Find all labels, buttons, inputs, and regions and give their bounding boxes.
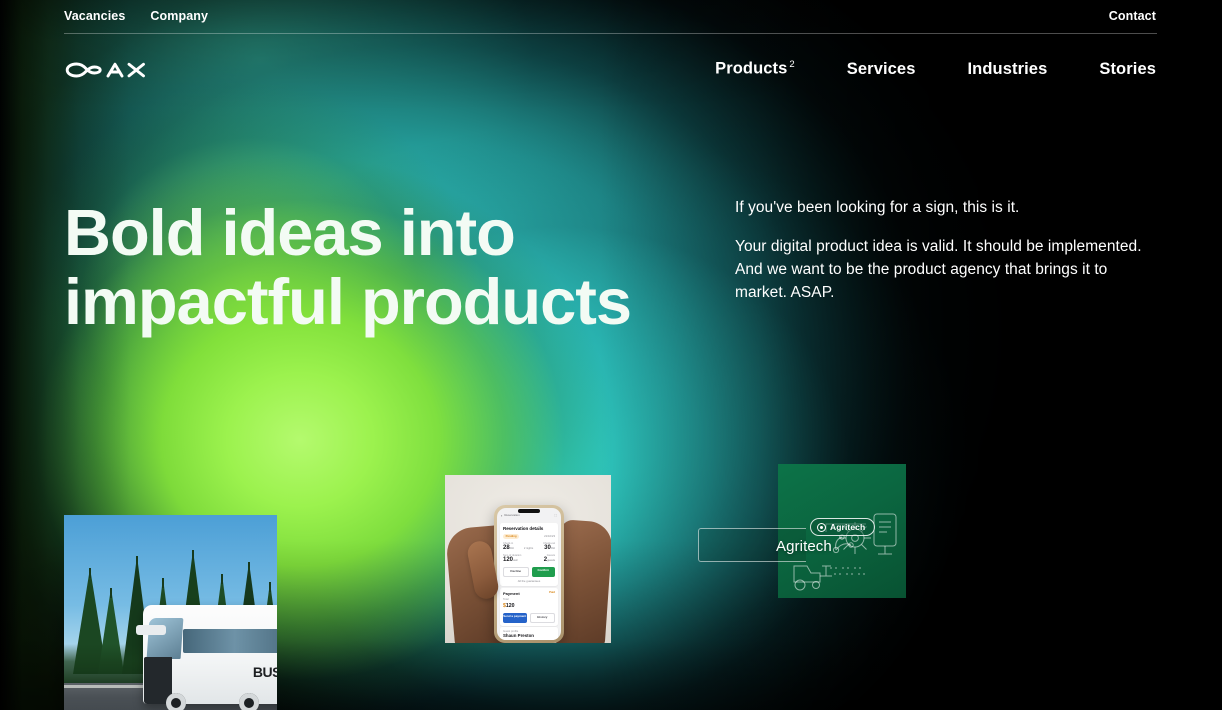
bus-wheel bbox=[166, 693, 186, 710]
check-out-month: Oct bbox=[551, 547, 555, 550]
contact-link[interactable]: Contact bbox=[1109, 9, 1156, 23]
page-title: Bold ideas into impactful products bbox=[64, 198, 684, 336]
send-payment-button[interactable]: Send a payment bbox=[503, 613, 527, 623]
coax-logo[interactable] bbox=[64, 58, 156, 82]
guests-value: 2guests bbox=[544, 557, 555, 563]
total-value: 120 bbox=[506, 603, 515, 609]
nav-label-products: Products bbox=[715, 60, 787, 78]
phone-screen: ‹ Reservation ⬚ Reservation details Pend… bbox=[497, 508, 561, 640]
nav-label-industries: Industries bbox=[968, 60, 1048, 78]
duration-unit: usd bbox=[513, 559, 517, 562]
nav-item-stories[interactable]: Stories bbox=[1099, 60, 1156, 79]
coax-logo-mark bbox=[64, 58, 156, 82]
decline-button[interactable]: Decline bbox=[503, 567, 529, 577]
agritech-node-icon bbox=[817, 523, 826, 532]
confirm-button[interactable]: Confirm bbox=[532, 567, 556, 577]
check-out-block: Check-out 30Oct bbox=[543, 542, 555, 551]
app-status-label: Reservation bbox=[504, 514, 519, 518]
nav-item-products[interactable]: Products2 bbox=[715, 59, 795, 79]
bus-mirror bbox=[136, 625, 166, 636]
utility-bar: Vacancies Company Contact bbox=[0, 0, 1222, 32]
reservation-actions: Decline Confirm bbox=[503, 567, 555, 577]
hero-lead-text: If you've been looking for a sign, this … bbox=[735, 197, 1155, 219]
guest-profile-card[interactable]: Guest profile Shaun Preston bbox=[500, 627, 558, 640]
stay-dates-row: Check-in 28Oct 2 nights Check-out 30Oct bbox=[503, 542, 555, 551]
reservation-date: 21/10/23 bbox=[544, 535, 555, 538]
utility-link-vacancies[interactable]: Vacancies bbox=[64, 9, 125, 23]
nav-item-industries[interactable]: Industries bbox=[968, 60, 1048, 79]
guest-profile-name: Shaun Preston bbox=[503, 633, 555, 639]
nav-item-services[interactable]: Services bbox=[847, 60, 916, 79]
total-amount: $120 bbox=[503, 603, 555, 610]
hero-copy: If you've been looking for a sign, this … bbox=[735, 197, 1155, 304]
check-in-day: 28 bbox=[503, 545, 510, 551]
phone-device: ‹ Reservation ⬚ Reservation details Pend… bbox=[494, 505, 564, 643]
summary-row: Sum of duration 120usd Guests 2guests bbox=[503, 554, 555, 563]
reservation-status-row: Pending 21/10/23 bbox=[503, 534, 555, 539]
nav-label-services: Services bbox=[847, 60, 916, 78]
guests-unit: guests bbox=[547, 559, 555, 562]
check-in-month: Oct bbox=[510, 547, 514, 550]
hero-body-text: Your digital product idea is valid. It s… bbox=[735, 235, 1155, 304]
check-out-day: 30 bbox=[544, 545, 551, 551]
main-header: Products2 Services Industries Stories bbox=[0, 33, 1222, 111]
bus-brand-logo: BUSTO bbox=[253, 665, 277, 679]
guests-block: Guests 2guests bbox=[544, 554, 555, 563]
payment-header: Payment Paid bbox=[503, 591, 555, 596]
chevron-left-icon[interactable]: ‹ bbox=[501, 514, 502, 518]
duration-amount: 120 bbox=[503, 557, 513, 563]
check-out-value: 30Oct bbox=[543, 545, 555, 551]
bus-wheel bbox=[239, 693, 259, 710]
payment-status: Paid bbox=[549, 591, 555, 594]
history-button[interactable]: History bbox=[530, 613, 556, 623]
reservation-app-case-card[interactable]: ‹ Reservation ⬚ Reservation details Pend… bbox=[445, 475, 611, 643]
nav-products-count: 2 bbox=[789, 59, 794, 70]
status-badge: Pending bbox=[503, 534, 519, 539]
check-in-block: Check-in 28Oct bbox=[503, 542, 514, 551]
agritech-card-label: Agritech bbox=[776, 538, 832, 555]
share-icon[interactable]: ⬚ bbox=[554, 514, 557, 518]
reservation-details-card: Reservation details Pending 21/10/23 Che… bbox=[500, 523, 558, 587]
payment-actions: Send a payment History bbox=[503, 613, 555, 623]
nav-label-stories: Stories bbox=[1099, 60, 1156, 78]
bus-tour-case-card[interactable]: BUSTO bbox=[64, 515, 277, 710]
duration-block: Sum of duration 120usd bbox=[503, 554, 521, 563]
primary-navigation: Products2 Services Industries Stories bbox=[715, 59, 1156, 79]
utility-link-company[interactable]: Company bbox=[150, 9, 208, 23]
bus-window-strip bbox=[183, 629, 277, 653]
utility-contact: Contact bbox=[1109, 0, 1156, 32]
agritech-pill-label: Agritech bbox=[830, 522, 865, 532]
check-in-value: 28Oct bbox=[503, 545, 514, 551]
bus-brand-part-one: BUS bbox=[253, 664, 277, 680]
hero-page: Vacancies Company Contact Products2 Serv… bbox=[0, 0, 1222, 710]
agritech-tag-pill[interactable]: Agritech bbox=[810, 518, 875, 536]
payment-card: Payment Paid Total $120 Send a payment H… bbox=[500, 588, 558, 626]
utility-links: Vacancies Company bbox=[64, 0, 208, 32]
nights-count: 2 nights bbox=[524, 547, 533, 551]
duration-value: 120usd bbox=[503, 557, 521, 563]
guarantees-link[interactable]: All the guarantees bbox=[503, 580, 555, 583]
total-label: Total bbox=[503, 598, 555, 601]
reservation-title: Reservation details bbox=[503, 526, 555, 532]
phone-notch bbox=[518, 509, 540, 513]
payment-title: Payment bbox=[503, 591, 520, 596]
